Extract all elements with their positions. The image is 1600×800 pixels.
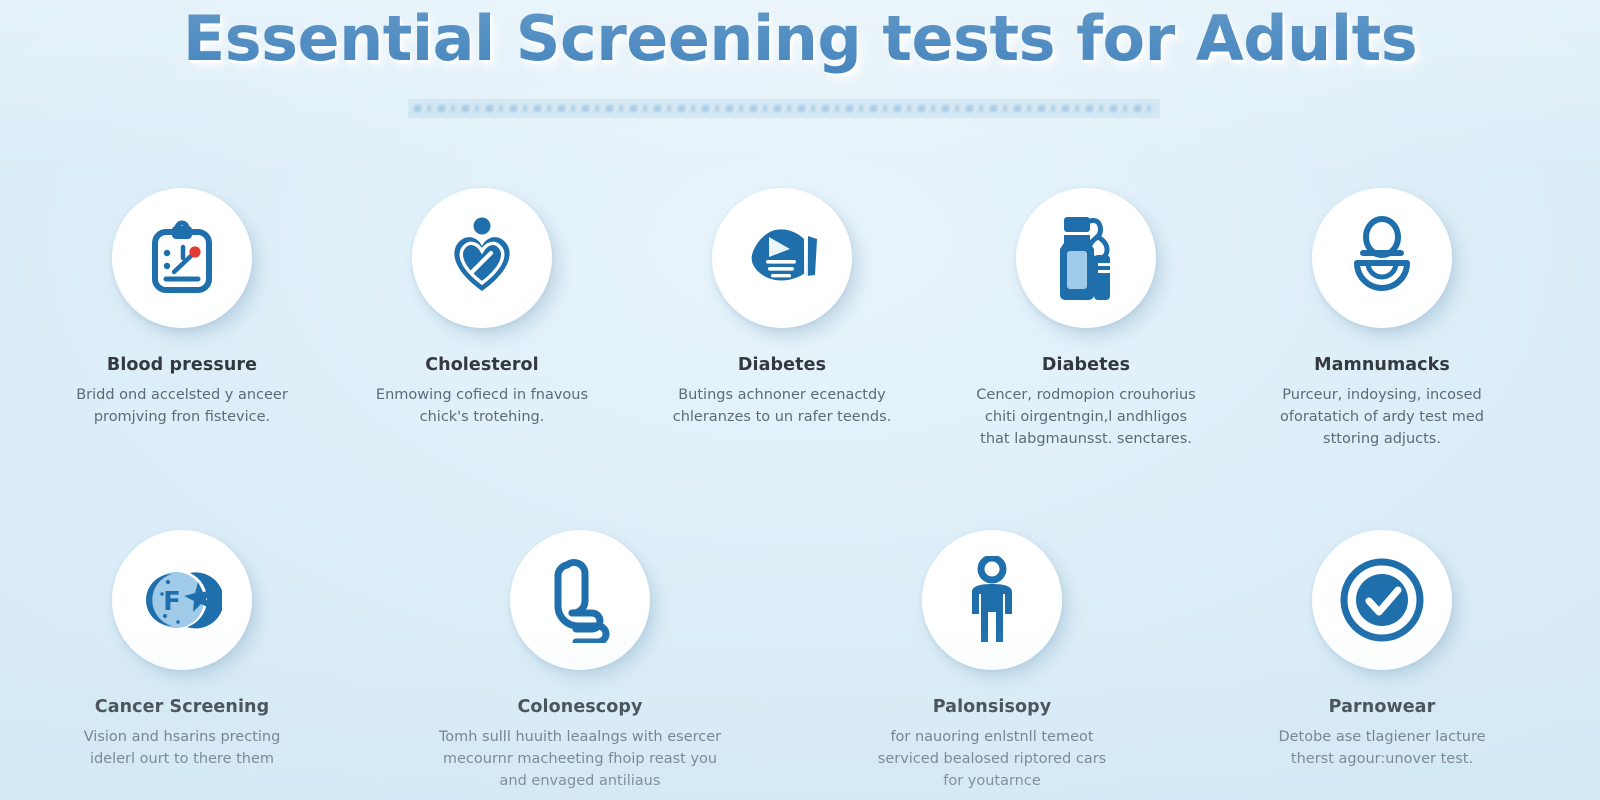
svg-text:F: F: [163, 587, 181, 617]
icon-circle: [510, 530, 650, 670]
screening-item-blood-pressure[interactable]: Blood pressure Bridd ond accelsted y anc…: [22, 188, 342, 428]
item-title: Cancer Screening: [12, 698, 352, 717]
item-title: Cholesterol: [322, 356, 642, 375]
item-title: Diabetes: [926, 356, 1246, 375]
item-description: Purceur, indoysing, incosed oforatatich …: [1222, 384, 1542, 450]
icon-badge: [922, 530, 1062, 670]
mammogram-icon: [1343, 216, 1421, 300]
icon-circle: F: [112, 530, 252, 670]
item-description: Butings achnoner ecenactdy chleranzes to…: [622, 384, 942, 428]
moon-star-f-icon: F: [142, 560, 222, 640]
page-title: Essential Screening tests for Adults: [183, 2, 1417, 75]
icon-circle: [412, 188, 552, 328]
item-title: Blood pressure: [22, 356, 342, 375]
icon-circle: [1312, 530, 1452, 670]
infographic-poster: Essential Screening tests for Adults aa …: [0, 0, 1600, 800]
check-circle-icon: [1340, 558, 1424, 642]
icon-circle: [712, 188, 852, 328]
icon-badge: [1312, 530, 1452, 670]
item-title: Parnowear: [1212, 698, 1552, 717]
screening-item-checkup-complete[interactable]: Parnowear Detobe ase tlagiener lacture t…: [1212, 530, 1552, 770]
screening-item-mammograms[interactable]: Mamnumacks Purceur, indoysing, incosed o…: [1222, 188, 1542, 450]
item-description: Tomh sulll huuith leaalngs with esercer …: [410, 726, 750, 792]
icon-badge: [510, 530, 650, 670]
colon-icon: [545, 557, 615, 643]
hand-glucose-meter-icon: [742, 227, 822, 289]
icon-badge: [1312, 188, 1452, 328]
icon-badge: [412, 188, 552, 328]
screening-item-diabetes-hand[interactable]: Diabetes Butings achnoner ecenactdy chle…: [622, 188, 942, 428]
clipboard-gauge-icon: [146, 220, 218, 296]
item-description: Bridd ond accelsted y anceer promjving f…: [22, 384, 342, 428]
item-description: for nauoring enlstnll temeot serviced be…: [822, 726, 1162, 792]
icon-circle: [922, 530, 1062, 670]
screening-item-cancer-screening[interactable]: F Cancer Screening Vision and hsarins pr…: [12, 530, 352, 770]
screening-item-body-check[interactable]: Palonsisopy for nauoring enlstnll temeot…: [822, 530, 1162, 792]
item-title: Mamnumacks: [1222, 356, 1542, 375]
icon-badge: [112, 188, 252, 328]
icon-circle: [1312, 188, 1452, 328]
person-body-icon: [960, 556, 1024, 644]
item-title: Colonescopy: [410, 698, 750, 717]
bottle-dropper-icon: [1050, 215, 1122, 301]
screening-item-cholesterol[interactable]: Cholesterol Enmowing cofiecd in fnavous …: [322, 188, 642, 428]
screening-item-colonoscopy[interactable]: Colonescopy Tomh sulll huuith leaalngs w…: [410, 530, 750, 792]
icon-circle: [1016, 188, 1156, 328]
subtitle-placeholder-bar: aa aaaa aa aaaaaaaa aa aaaaaa aaa aaaaaa…: [408, 99, 1160, 118]
icon-badge: [712, 188, 852, 328]
item-description: Vision and hsarins precting idelerl ourt…: [12, 726, 352, 770]
heart-gauge-icon: [444, 217, 520, 299]
screening-item-diabetes-bottle[interactable]: Diabetes Cencer, rodmopion crouhorius ch…: [926, 188, 1246, 450]
icon-circle: [112, 188, 252, 328]
item-description: Cencer, rodmopion crouhorius chiti oirge…: [926, 384, 1246, 450]
item-description: Detobe ase tlagiener lacture therst agou…: [1212, 726, 1552, 770]
item-title: Diabetes: [622, 356, 942, 375]
item-description: Enmowing cofiecd in fnavous chick's trot…: [322, 384, 642, 428]
subtitle-text: aa aaaa aa aaaaaaaa aa aaaaaa aaa aaaaaa…: [408, 99, 1160, 118]
title-area: Essential Screening tests for Adults: [0, 2, 1600, 75]
icon-badge: F: [112, 530, 252, 670]
icon-badge: [1016, 188, 1156, 328]
item-title: Palonsisopy: [822, 698, 1162, 717]
